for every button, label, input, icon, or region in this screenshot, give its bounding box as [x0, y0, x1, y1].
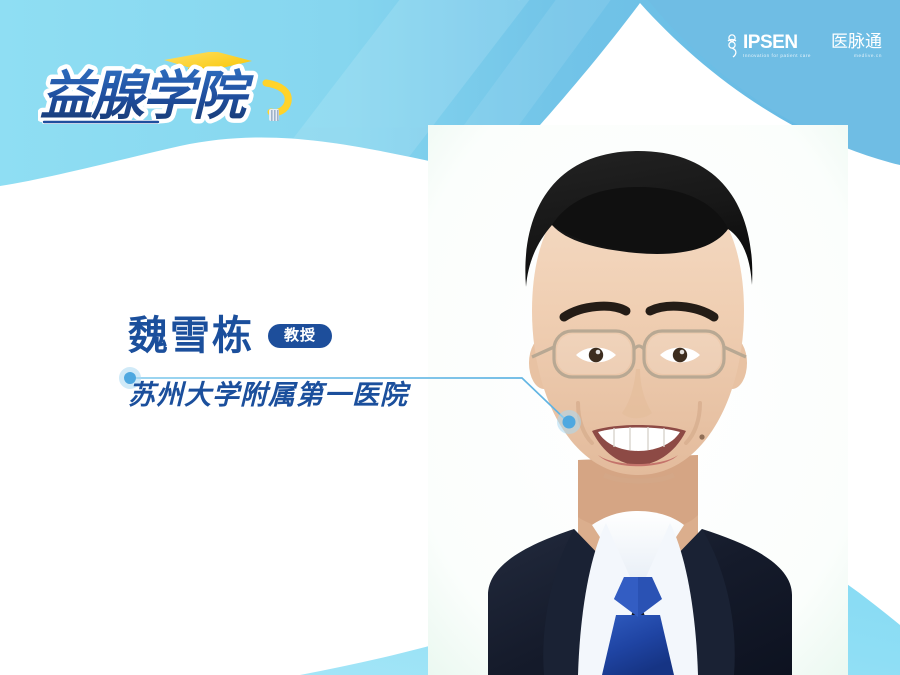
slide-canvas: 益腺学院 益腺学院: [0, 0, 900, 675]
medlive-domain: medlive.cn: [854, 53, 882, 58]
connector-dot-right-inner: [563, 416, 576, 429]
speaker-info: 魏雪栋 教授 苏州大学附属第一医院: [128, 312, 408, 409]
academy-logo: 益腺学院 益腺学院: [38, 52, 303, 130]
ipsen-logo: IPSEN Innovation for patient care: [727, 33, 811, 59]
svg-text:益腺学院: 益腺学院: [40, 66, 254, 127]
ipsen-helix-icon: [727, 33, 740, 59]
ipsen-tagline: Innovation for patient care: [743, 54, 811, 59]
speaker-affiliation: 苏州大学附属第一医院: [128, 382, 408, 409]
speaker-title-badge: 教授: [268, 324, 332, 348]
ipsen-wordmark: IPSEN: [743, 33, 811, 52]
brand-bar: IPSEN Innovation for patient care 医脉通 me…: [727, 33, 882, 59]
speaker-name: 魏雪栋: [128, 316, 254, 356]
medlive-logo: 医脉通 medlive.cn: [831, 34, 882, 58]
medlive-wordmark: 医脉通: [831, 34, 882, 51]
tassel-icon: [266, 83, 288, 121]
speaker-name-row: 魏雪栋 教授: [128, 312, 408, 360]
